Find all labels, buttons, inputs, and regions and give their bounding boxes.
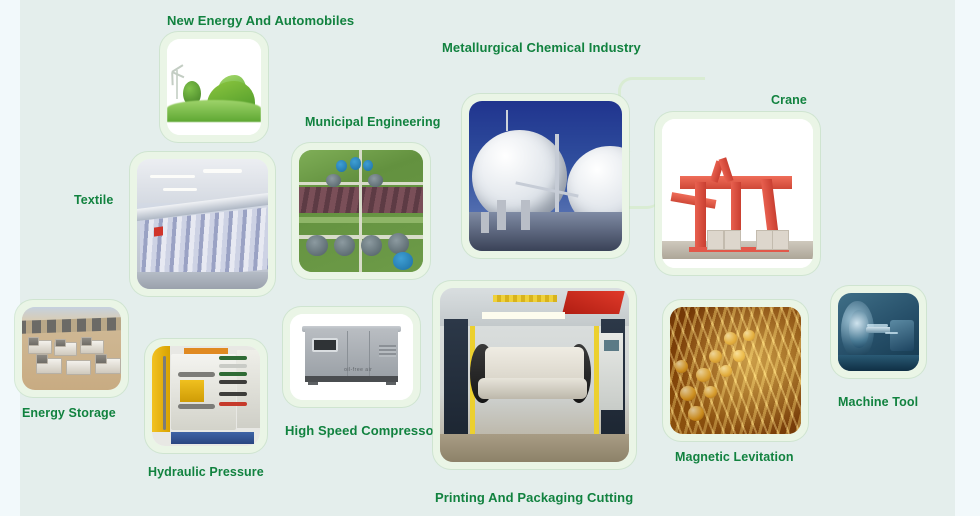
card-magnetic-levitation[interactable]	[663, 300, 808, 441]
card-label-magnetic-levitation: Magnetic Levitation	[675, 451, 794, 464]
card-image-magnetic-levitation	[670, 307, 801, 434]
card-new-energy-and-automobiles[interactable]	[160, 32, 268, 142]
card-hydraulic-pressure[interactable]	[145, 339, 267, 453]
application-scenarios-graphic: New Energy And Automobiles	[0, 0, 980, 516]
card-label-new-energy-and-automobiles: New Energy And Automobiles	[167, 14, 354, 27]
card-municipal-engineering[interactable]	[292, 143, 430, 279]
card-label-machine-tool: Machine Tool	[838, 396, 918, 409]
card-energy-storage[interactable]	[15, 300, 128, 397]
card-label-energy-storage: Energy Storage	[22, 407, 116, 420]
card-image-hydraulic-pressure	[152, 346, 260, 446]
card-label-textile: Textile	[74, 194, 113, 207]
card-label-crane: Crane	[771, 94, 807, 107]
card-textile[interactable]	[130, 152, 275, 296]
card-image-municipal-engineering	[299, 150, 423, 272]
card-label-high-speed-compressor: High Speed Compressor	[285, 424, 439, 437]
card-machine-tool[interactable]	[831, 286, 926, 378]
card-label-hydraulic-pressure: Hydraulic Pressure	[148, 466, 264, 479]
card-image-machine-tool	[838, 293, 919, 371]
card-image-crane	[662, 119, 813, 268]
card-image-metallurgical-chemical-industry	[469, 101, 622, 251]
card-printing-and-packaging-cutting[interactable]	[433, 281, 636, 469]
card-label-municipal-engineering: Municipal Engineering	[305, 116, 440, 129]
card-label-metallurgical-chemical-industry: Metallurgical Chemical Industry	[442, 41, 641, 54]
card-metallurgical-chemical-industry[interactable]	[462, 94, 629, 258]
card-image-printing-and-packaging-cutting	[440, 288, 629, 462]
card-crane[interactable]	[655, 112, 820, 275]
card-image-new-energy-and-automobiles	[167, 39, 261, 135]
card-high-speed-compressor[interactable]: oil-free air	[283, 307, 420, 407]
card-image-high-speed-compressor: oil-free air	[290, 314, 413, 400]
card-image-textile	[137, 159, 268, 289]
card-image-energy-storage	[22, 307, 121, 390]
card-label-printing-and-packaging-cutting: Printing And Packaging Cutting	[435, 491, 633, 504]
